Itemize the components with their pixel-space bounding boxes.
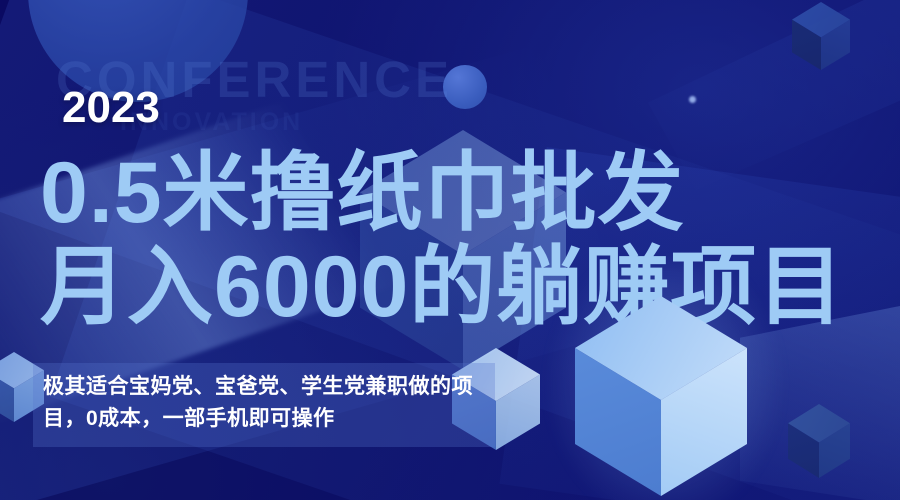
- circle-shape: [689, 96, 696, 103]
- headline-line-1: 0.5米撸纸巾批发: [40, 145, 685, 241]
- description-text: 极其适合宝妈党、宝爸党、学生党兼职做的项目，0成本，一部手机即可操作: [33, 363, 495, 447]
- cube-icon: [788, 404, 850, 478]
- year-badge: 2023: [62, 86, 160, 130]
- promo-poster: CONFERENCE INNOVATION 2023 0.5米撸纸巾批发 月入6…: [0, 0, 900, 500]
- page-title: 0.5米撸纸巾批发 月入6000的躺赚项目: [40, 144, 900, 336]
- headline-line-2: 月入6000的躺赚项目: [40, 238, 900, 336]
- cube-icon: [575, 296, 747, 496]
- cube-icon: [792, 2, 850, 70]
